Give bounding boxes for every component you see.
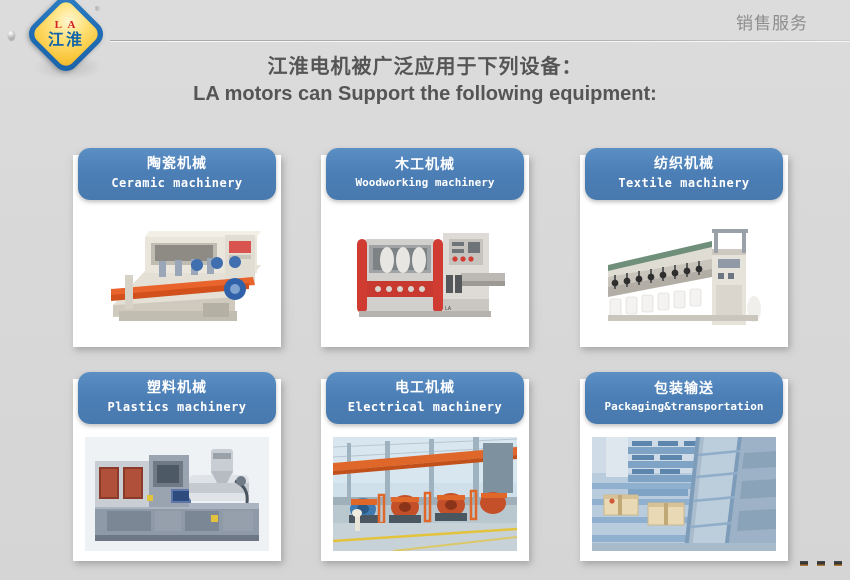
page-title-chinese: 江淮电机被广泛应用于下列设备： [0, 54, 850, 79]
card-title-chinese: 电工机械 [395, 381, 455, 396]
page-title-english: LA motors can Support the following equi… [0, 81, 850, 108]
card-header-woodworking[interactable]: 木工机械 Woodworking machinery [326, 148, 524, 200]
slide-header: L A 江淮 ® 销售服务 [0, 0, 850, 52]
slide-root: L A 江淮 ® 销售服务 江淮电机被广泛应用于下列设备： LA motors … [0, 0, 850, 580]
card-title-chinese: 陶瓷机械 [147, 157, 207, 172]
woodworking-machine-illustration: LA [333, 215, 517, 337]
photo-ceramic-machinery [85, 215, 269, 337]
pagination-dot[interactable] [834, 561, 842, 566]
photo-plastics-machinery [85, 437, 269, 551]
ceramic-machine-illustration [85, 215, 269, 337]
card-title-english: Ceramic machinery [111, 176, 242, 191]
card-header-electrical[interactable]: 电工机械 Electrical machinery [326, 372, 524, 424]
card-header-textile[interactable]: 纺织机械 Textile machinery [585, 148, 783, 200]
card-title-english: Electrical machinery [348, 400, 503, 415]
page-title: 江淮电机被广泛应用于下列设备： LA motors can Support th… [0, 54, 850, 108]
pagination-dots[interactable] [800, 561, 842, 566]
plastics-machine-illustration [85, 437, 269, 551]
textile-machine-illustration [592, 215, 776, 337]
registered-trademark-icon: ® [95, 7, 99, 13]
card-title-english: Woodworking machinery [355, 176, 494, 190]
card-header-plastics[interactable]: 塑料机械 Plastics machinery [78, 372, 276, 424]
pagination-dot[interactable] [817, 561, 825, 566]
svg-text:LA: LA [445, 306, 452, 312]
card-title-chinese: 包装输送 [654, 382, 714, 397]
card-title-english: Packaging&transportation [605, 400, 764, 414]
electrical-workshop-illustration [333, 437, 517, 551]
conveyor-system-illustration [592, 437, 776, 551]
photo-textile-machinery [592, 215, 776, 337]
photo-woodworking-machinery: LA [333, 215, 517, 337]
card-header-packaging[interactable]: 包装输送 Packaging&transportation [585, 372, 783, 424]
card-title-english: Textile machinery [618, 176, 749, 191]
card-title-chinese: 塑料机械 [147, 381, 207, 396]
equipment-card-grid: 陶瓷机械 Ceramic machinery [0, 148, 850, 568]
logo-chinese-text: 江淮 [48, 32, 84, 48]
photo-electrical-machinery [333, 437, 517, 551]
card-header-ceramic[interactable]: 陶瓷机械 Ceramic machinery [78, 148, 276, 200]
card-title-chinese: 木工机械 [395, 158, 455, 173]
card-title-english: Plastics machinery [107, 400, 246, 415]
card-title-chinese: 纺织机械 [654, 157, 714, 172]
header-divider [110, 40, 850, 41]
header-section-label: 销售服务 [736, 9, 808, 34]
pagination-dot[interactable] [800, 561, 808, 566]
photo-packaging-transportation [592, 437, 776, 551]
decorative-bead-icon [8, 30, 15, 40]
